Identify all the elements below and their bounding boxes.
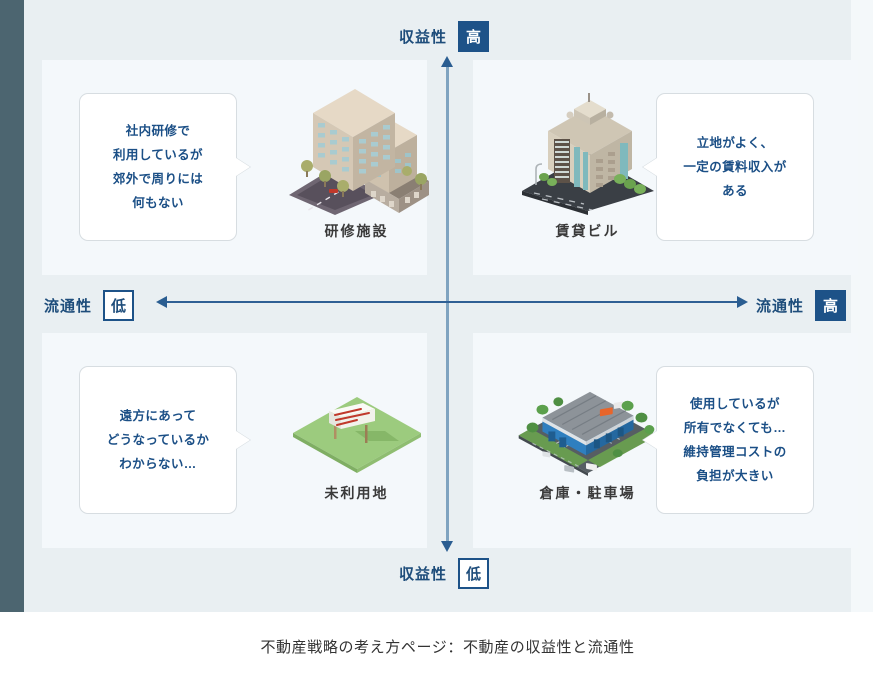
figure-caption-text: 不動産戦略の考え方ページ：不動産の収益性と流通性	[260, 636, 634, 657]
axis-label-bottom-name: 収益性	[399, 563, 447, 584]
horizontal-axis-line	[164, 301, 739, 303]
quadrant-figure: 収益性 高 収益性 低 流通性 低 流通性 高 社内研修で利用しているが郊外で周…	[24, 0, 873, 612]
speech-bubble-top-left: 社内研修で利用しているが郊外で周りには何もない	[79, 93, 237, 241]
figure-root: 収益性 高 収益性 低 流通性 低 流通性 高 社内研修で利用しているが郊外で周…	[0, 0, 895, 681]
vertical-axis-line	[446, 62, 449, 545]
speech-bubble-bottom-left: 遠方にあってどうなっているかわからない…	[79, 366, 237, 514]
axis-arrow-right-icon	[737, 296, 748, 308]
axis-arrow-left-icon	[156, 296, 167, 308]
axis-badge-right: 高	[815, 290, 846, 321]
speech-bubble-tail-icon	[643, 158, 657, 176]
illustration-vacant-land: 未利用地	[269, 378, 444, 503]
speech-bubble-bottom-right: 使用しているが所有でなくても…維持管理コストの負担が大きい	[656, 366, 814, 514]
speech-bubble-bottom-left-text: 遠方にあってどうなっているかわからない…	[99, 398, 218, 482]
illustration-training-facility: 研修施設	[269, 86, 444, 241]
speech-bubble-top-right: 立地がよく、一定の賃料収入がある	[656, 93, 814, 241]
axis-badge-bottom: 低	[458, 558, 489, 589]
axis-label-bottom: 収益性 低	[399, 558, 489, 589]
illustration-label-warehouse: 倉庫・駐車場	[540, 483, 636, 503]
axis-label-right-name: 流通性	[756, 295, 804, 316]
rental-tower-building-icon	[508, 87, 668, 215]
axis-badge-top: 高	[458, 21, 489, 52]
axis-label-top: 収益性 高	[399, 21, 489, 52]
speech-bubble-tail-icon	[236, 158, 250, 176]
speech-bubble-tail-icon	[643, 431, 657, 449]
axis-arrow-down-icon	[441, 541, 453, 552]
axis-badge-left: 低	[103, 290, 134, 321]
axis-label-left-name: 流通性	[44, 295, 92, 316]
speech-bubble-top-right-text: 立地がよく、一定の賃料収入がある	[675, 125, 794, 209]
illustration-label-training-facility: 研修施設	[325, 221, 389, 241]
axis-label-right: 流通性 高	[756, 290, 846, 321]
vacant-land-with-sign-icon	[277, 381, 437, 477]
axis-label-left: 流通性 低	[44, 290, 134, 321]
warehouse-parking-lot-icon	[508, 378, 668, 477]
left-edge-strip	[0, 0, 24, 612]
figure-caption: 不動産戦略の考え方ページ：不動産の収益性と流通性	[0, 612, 895, 681]
speech-bubble-tail-icon	[236, 431, 250, 449]
speech-bubble-bottom-right-text: 使用しているが所有でなくても…維持管理コストの負担が大きい	[675, 386, 794, 494]
training-facility-building-icon	[277, 87, 437, 215]
illustration-label-rental-tower: 賃貸ビル	[556, 221, 620, 241]
axis-label-top-name: 収益性	[399, 26, 447, 47]
axis-arrow-up-icon	[441, 56, 453, 67]
illustration-label-vacant-land: 未利用地	[325, 483, 389, 503]
speech-bubble-top-left-text: 社内研修で利用しているが郊外で周りには何もない	[105, 113, 211, 221]
